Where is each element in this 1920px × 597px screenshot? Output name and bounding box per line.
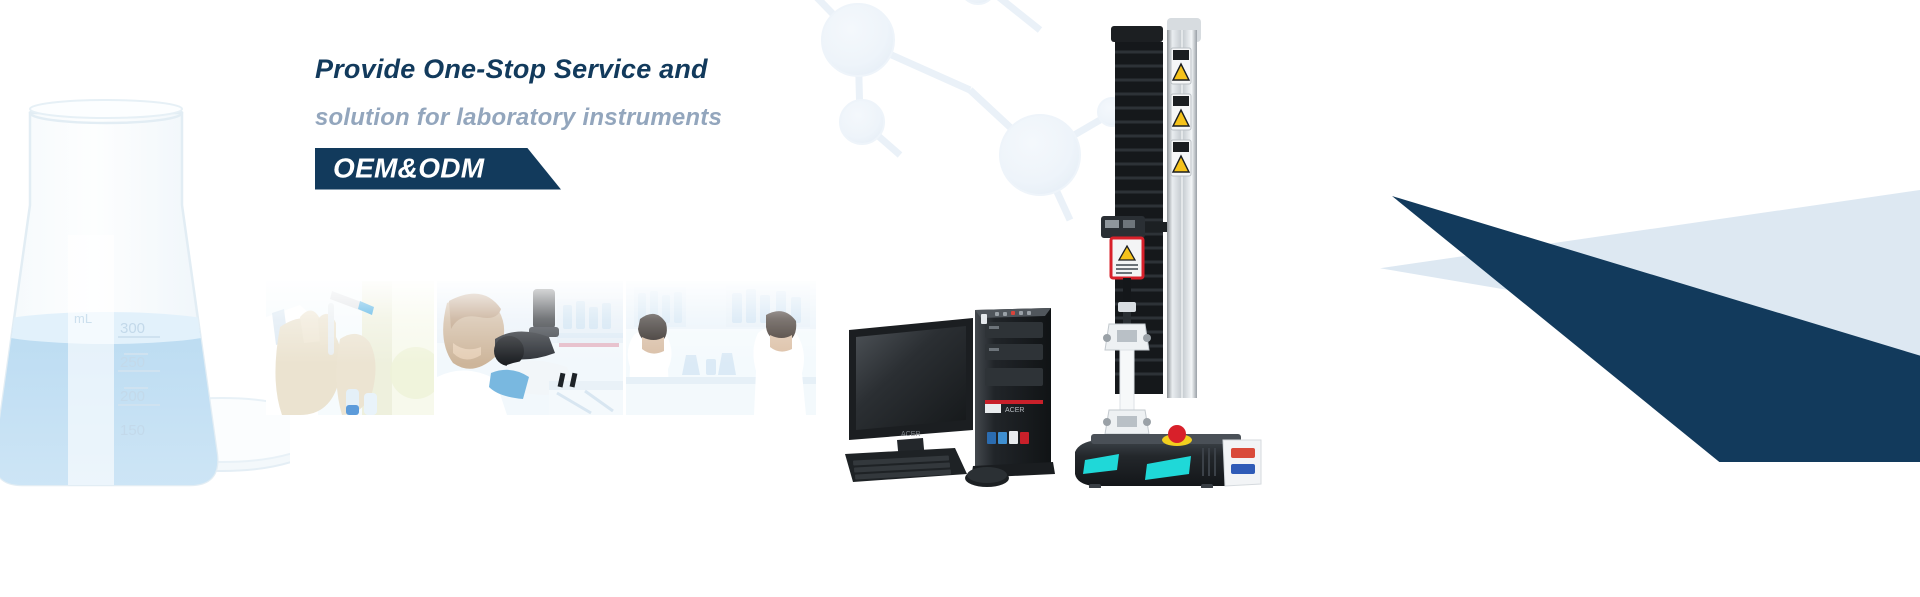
hero-banner: 300 250 200 150 mL Provide One-Stop Serv… [0, 0, 1920, 597]
equipment-cluster: ACER [845, 8, 1375, 488]
warning-label [1171, 48, 1191, 84]
photo-strip [266, 281, 816, 415]
oem-odm-badge: OEM&ODM [315, 148, 561, 190]
svg-text:200: 200 [120, 388, 145, 405]
svg-text:ACER: ACER [901, 431, 920, 438]
erlenmeyer-flask-icon: 300 250 200 150 mL [0, 85, 290, 505]
warning-label [1171, 140, 1191, 176]
svg-text:ACER: ACER [1005, 407, 1024, 414]
warning-label [1171, 94, 1191, 130]
photo-microscope [437, 281, 623, 415]
badge-label: OEM&ODM [333, 152, 484, 184]
svg-text:150: 150 [120, 422, 145, 439]
headline-block: Provide One-Stop Service and solution fo… [315, 55, 875, 190]
desktop-computer-icon: ACER [845, 308, 1095, 493]
svg-text:mL: mL [74, 311, 92, 326]
headline-secondary: solution for laboratory instruments [315, 105, 875, 130]
svg-text:250: 250 [120, 354, 145, 371]
headline-primary: Provide One-Stop Service and [315, 55, 875, 83]
photo-pipetting [266, 281, 434, 415]
universal-testing-machine-icon [1075, 8, 1265, 488]
svg-text:300: 300 [120, 320, 145, 337]
photo-lab-bench [626, 281, 816, 415]
